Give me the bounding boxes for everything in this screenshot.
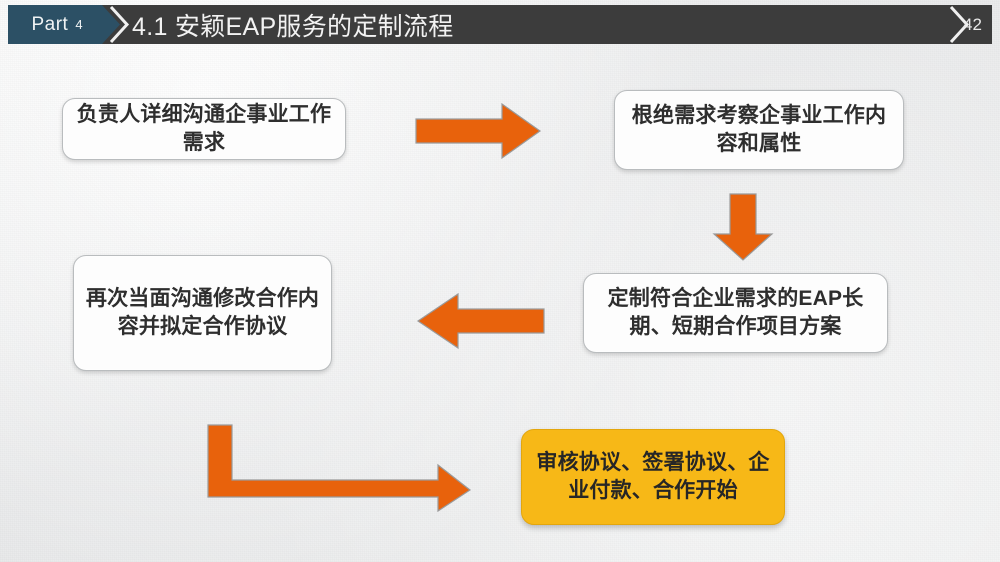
slide-header: Part 4 4.1 安颖EAP服务的定制流程 42: [8, 5, 992, 44]
arrow-down-icon: [712, 192, 774, 262]
chevron-right-icon: [108, 5, 130, 44]
part-tab-number: 4: [75, 18, 82, 31]
page-title: 4.1 安颖EAP服务的定制流程: [132, 5, 454, 44]
arrow-left-icon: [416, 292, 546, 350]
page-number: 42: [963, 5, 982, 44]
part-tab-label: Part: [31, 15, 68, 34]
part-tab[interactable]: Part 4: [8, 5, 120, 44]
arrow-elbow-down-right-icon: [206, 423, 472, 513]
arrow-right-icon: [414, 102, 542, 160]
flow-box-requirements-communication[interactable]: 负责人详细沟通企事业工作需求: [62, 98, 346, 160]
slide-canvas: Part 4 4.1 安颖EAP服务的定制流程 42 负责人详细沟通企事业工作需…: [0, 0, 1000, 562]
flow-box-agreement-revision[interactable]: 再次当面沟通修改合作内容并拟定合作协议: [73, 255, 332, 371]
flow-box-needs-investigation[interactable]: 根绝需求考察企事业工作内容和属性: [614, 90, 904, 170]
flow-box-eap-plan-customization[interactable]: 定制符合企业需求的EAP长期、短期合作项目方案: [583, 273, 888, 353]
flow-box-sign-and-start[interactable]: 审核协议、签署协议、企业付款、合作开始: [521, 429, 785, 525]
